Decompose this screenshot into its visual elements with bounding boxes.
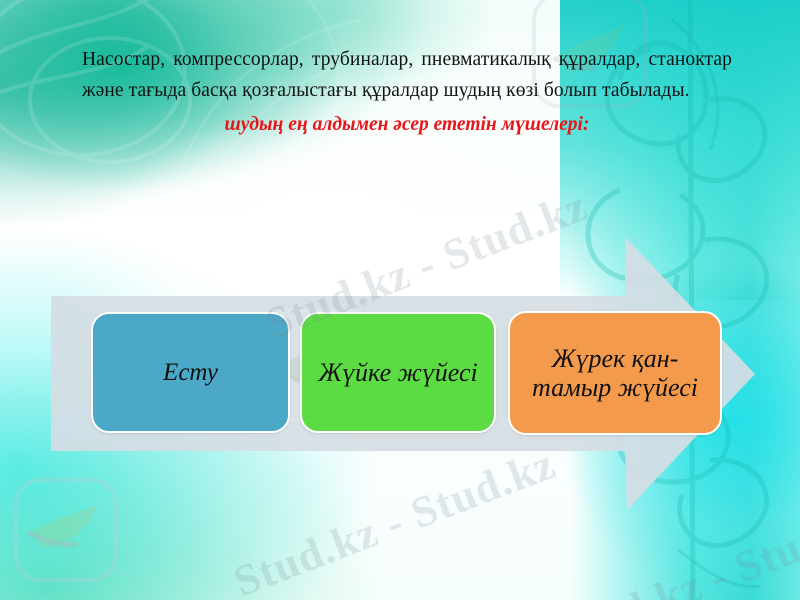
- box-hearing[interactable]: Есту: [91, 312, 290, 433]
- box-cardiovascular-system-label: Жүрек қан-тамыр жүйесі: [510, 344, 720, 402]
- box-nervous-system[interactable]: Жүйке жүйесі: [300, 312, 496, 433]
- text-block: Насостар, компрессорлар, трубиналар, пне…: [82, 44, 732, 138]
- box-hearing-label: Есту: [155, 359, 226, 387]
- body-paragraph: Насостар, компрессорлар, трубиналар, пне…: [82, 44, 732, 106]
- subtitle-text: шудың ең алдымен әсер ететін мүшелері:: [82, 112, 732, 138]
- box-nervous-system-label: Жүйке жүйесі: [310, 358, 486, 387]
- slide-canvas: Есту Жүйке жүйесі Жүрек қан-тамыр жүйесі…: [0, 0, 800, 600]
- box-cardiovascular-system[interactable]: Жүрек қан-тамыр жүйесі: [508, 311, 722, 435]
